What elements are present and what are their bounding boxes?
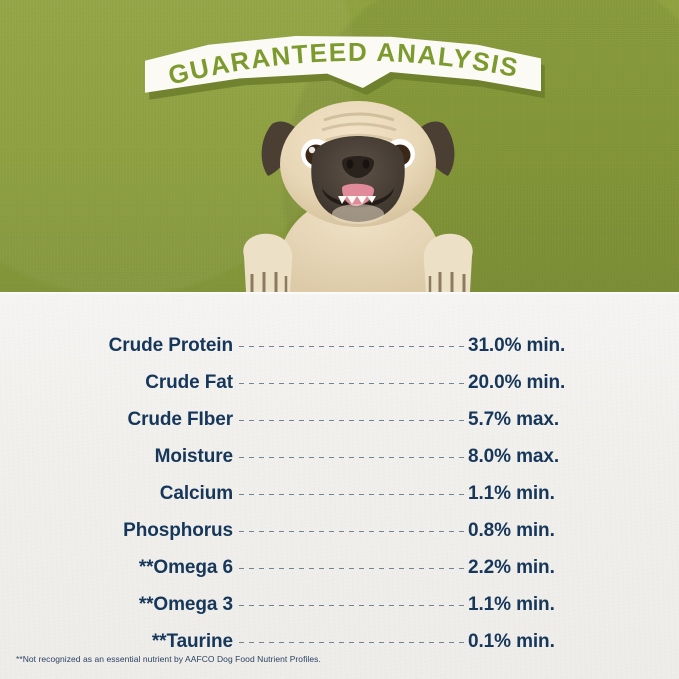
- table-row: **Omega 3 1.1% min.: [0, 586, 679, 623]
- dog-paw-left: [243, 234, 292, 292]
- leader-line: [239, 605, 465, 606]
- nutrient-label: Crude Fat: [0, 372, 233, 394]
- nutrient-label: **Omega 3: [0, 594, 233, 616]
- nutrient-value: 8.0% max.: [468, 446, 559, 468]
- leader-line: [239, 457, 465, 458]
- nutrient-value: 2.2% min.: [468, 557, 555, 579]
- dog-paw-right: [424, 234, 473, 292]
- guaranteed-analysis-panel: GUARANTEED ANALYSIS: [0, 0, 679, 679]
- nutrient-value: 1.1% min.: [468, 594, 555, 616]
- table-row: Crude Fat 20.0% min.: [0, 364, 679, 401]
- nutrient-label: **Omega 6: [0, 557, 233, 579]
- table-row: Moisture 8.0% max.: [0, 438, 679, 475]
- nutrient-label: **Taurine: [0, 631, 233, 653]
- nutrient-label: Moisture: [0, 446, 233, 468]
- dog-chin: [332, 204, 384, 224]
- table-row: Crude Protein 31.0% min.: [0, 327, 679, 364]
- leader-line: [239, 420, 465, 421]
- dog-nostril-right: [363, 159, 370, 168]
- paper-top-edge: [0, 292, 679, 295]
- dog-nostril-left: [347, 159, 354, 168]
- nutrient-value: 5.7% max.: [468, 409, 559, 431]
- nutrient-value: 31.0% min.: [468, 335, 565, 357]
- nutrient-value: 1.1% min.: [468, 483, 555, 505]
- nutrient-value: 0.8% min.: [468, 520, 555, 542]
- leader-line: [239, 531, 465, 532]
- nutrient-label: Crude Protein: [0, 335, 233, 357]
- table-row: Calcium 1.1% min.: [0, 475, 679, 512]
- nutrient-value: 20.0% min.: [468, 372, 565, 394]
- table-row: Phosphorus 0.8% min.: [0, 512, 679, 549]
- footnote-text: **Not recognized as an essential nutrien…: [16, 654, 321, 664]
- guaranteed-analysis-table: Crude Protein 31.0% min. Crude Fat 20.0%…: [0, 327, 679, 660]
- nutrient-label: Crude FIber: [0, 409, 233, 431]
- leader-line: [239, 346, 465, 347]
- table-row: Crude FIber 5.7% max.: [0, 401, 679, 438]
- leader-line: [239, 642, 465, 643]
- nutrient-value: 0.1% min.: [468, 631, 555, 653]
- pug-dog-illustration: [238, 96, 478, 311]
- leader-line: [239, 568, 465, 569]
- table-row: **Omega 6 2.2% min.: [0, 549, 679, 586]
- nutrient-label: Phosphorus: [0, 520, 233, 542]
- leader-line: [239, 383, 465, 384]
- leader-line: [239, 494, 465, 495]
- nutrient-label: Calcium: [0, 483, 233, 505]
